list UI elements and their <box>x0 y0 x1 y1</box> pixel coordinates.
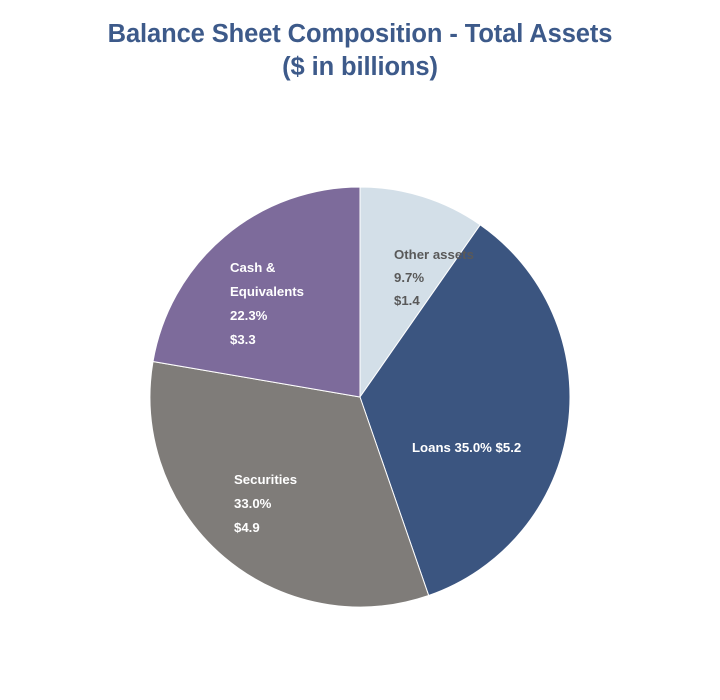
pie-label-other-assets-line-1: Other assets <box>394 247 474 262</box>
pie-label-securities-line-1: Securities <box>234 472 297 487</box>
pie-label-securities-line-2: 33.0% <box>234 496 272 511</box>
pie-label-cash-equivalents-line-4: $3.3 <box>230 332 256 347</box>
pie-chart-figure: Balance Sheet Composition - Total Assets… <box>0 0 720 700</box>
pie-label-other-assets-line-2: 9.7% <box>394 270 424 285</box>
pie-label-cash-equivalents-line-2: Equivalents <box>230 284 304 299</box>
pie-label-cash-equivalents-line-3: 22.3% <box>230 308 268 323</box>
pie-label-securities-line-3: $4.9 <box>234 520 260 535</box>
pie-label-cash-equivalents-line-1: Cash & <box>230 260 276 275</box>
pie-label-other-assets-line-3: $1.4 <box>394 293 420 308</box>
pie-plot-area: Other assets 9.7% $1.4 Loans 35.0% $5.2 … <box>0 0 720 700</box>
pie-label-loans-line-1: Loans 35.0% $5.2 <box>412 440 521 455</box>
pie-label-loans: Loans 35.0% $5.2 <box>412 440 521 455</box>
